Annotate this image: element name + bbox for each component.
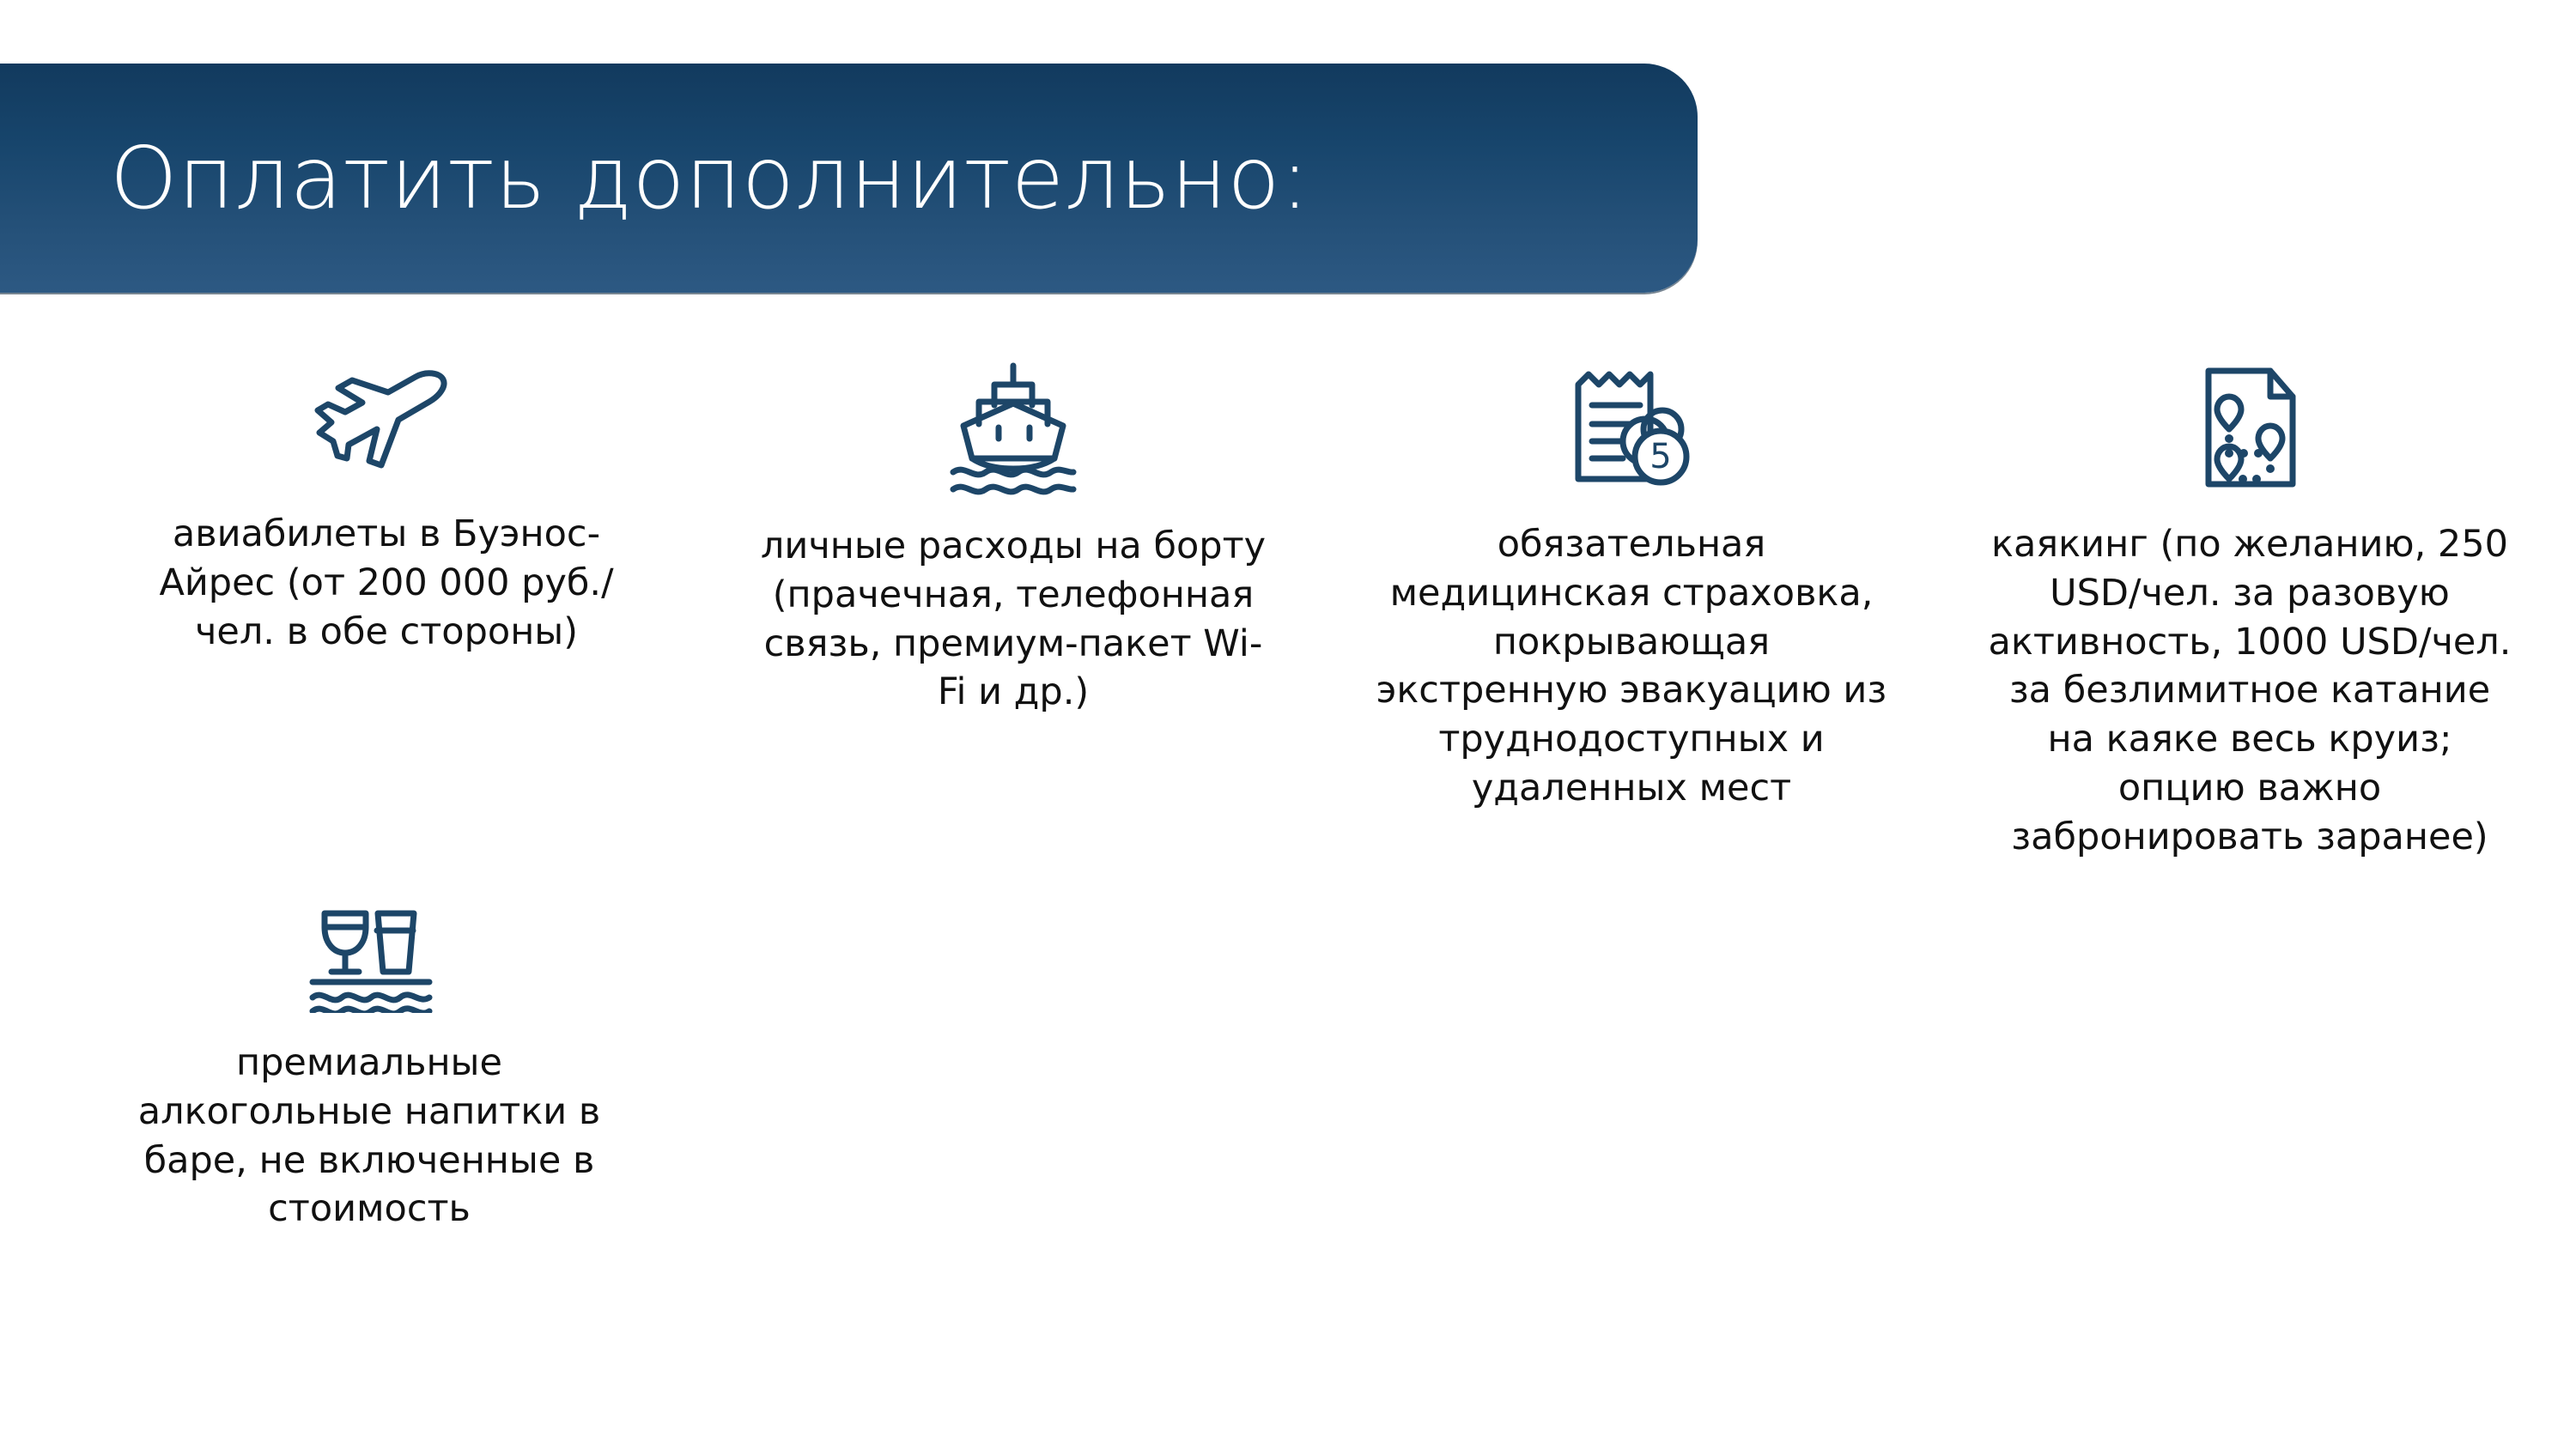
cruise-ship-icon (945, 359, 1082, 496)
item-caption: каякинг (по желанию, 250 USD/чел. за раз… (1984, 520, 2516, 861)
item-insurance: 5 обязательная медицинская страховка, по… (1374, 359, 1889, 813)
coin-value-label: 5 (1649, 437, 1671, 476)
airplane-icon (309, 369, 464, 472)
map-document-pins-icon (2181, 359, 2318, 496)
item-caption: премиальные алкогольные напитки в баре, … (120, 1039, 618, 1234)
page-title: Оплатить дополнительно: (110, 136, 1309, 221)
item-flights: авиабилеты в Буэнос-Айрес (от 200 000 ру… (146, 369, 627, 656)
title-banner: Оплатить дополнительно: (0, 64, 1698, 293)
item-caption: авиабилеты в Буэнос-Айрес (от 200 000 ру… (146, 510, 627, 656)
item-drinks: премиальные алкогольные напитки в баре, … (120, 901, 618, 1234)
item-kayaking: каякинг (по желанию, 250 USD/чел. за раз… (1984, 359, 2516, 861)
item-caption: личные расходы на борту (прачечная, теле… (756, 522, 1271, 717)
item-caption: обязательная медицинская страховка, покр… (1374, 520, 1889, 813)
drinks-glasses-icon (301, 901, 438, 1013)
receipt-coins-icon: 5 (1563, 359, 1700, 496)
item-onboard: личные расходы на борту (прачечная, теле… (756, 359, 1271, 717)
items-grid: авиабилеты в Буэнос-Айрес (от 200 000 ру… (0, 369, 2576, 1442)
